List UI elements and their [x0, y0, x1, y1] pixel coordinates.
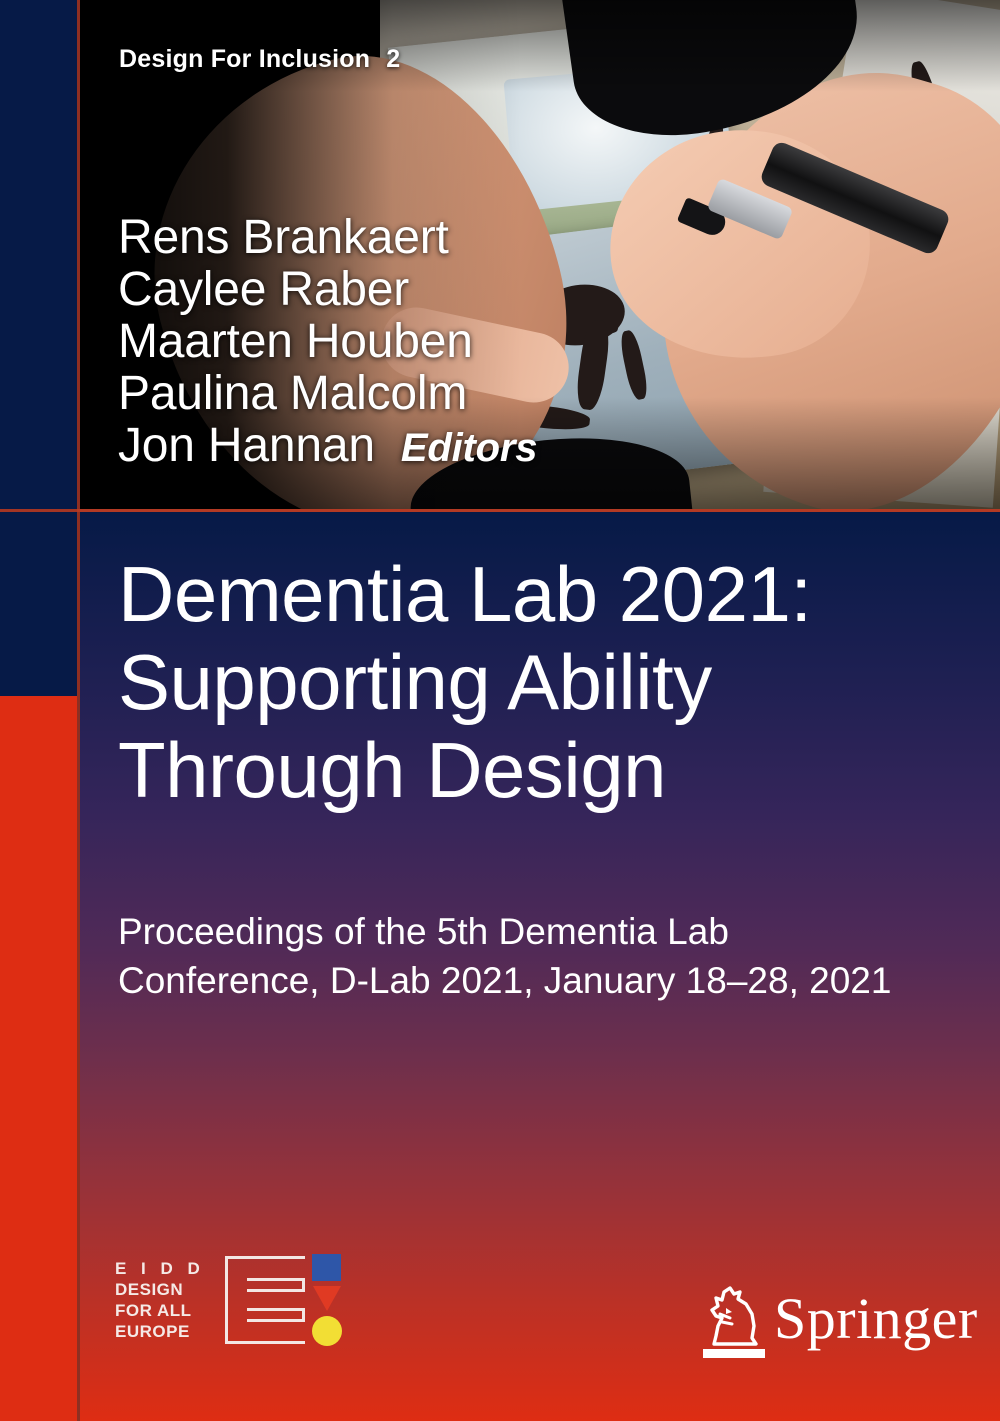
- subtitle-line: Proceedings of the 5th Dementia Lab: [118, 907, 958, 956]
- eidd-line-4: EUROPE: [115, 1321, 215, 1342]
- eidd-line-2: DESIGN: [115, 1279, 215, 1300]
- left-rail-divider: [0, 509, 77, 512]
- springer-knight-base: [703, 1349, 765, 1358]
- title-line: Through Design: [118, 726, 958, 814]
- vertical-rule: [77, 0, 80, 1421]
- editor-name: Maarten Houben: [118, 316, 537, 368]
- title-panel: Dementia Lab 2021: Supporting Ability Th…: [80, 512, 1000, 1421]
- book-title: Dementia Lab 2021: Supporting Ability Th…: [118, 550, 958, 814]
- book-cover: Design For Inclusion2 Rens Brankaert Cay…: [0, 0, 1000, 1421]
- editor-list: Rens Brankaert Caylee Raber Maarten Houb…: [118, 212, 537, 474]
- series-name: Design For Inclusion: [119, 45, 370, 73]
- book-subtitle: Proceedings of the 5th Dementia Lab Conf…: [118, 907, 958, 1005]
- blue-square-icon: [312, 1254, 341, 1281]
- editors-role-label: Editors: [401, 426, 537, 470]
- eidd-e-mark-icon: [225, 1256, 305, 1344]
- series-volume: 2: [386, 45, 400, 73]
- eidd-shape-group: [311, 1254, 345, 1348]
- editor-name-text: Jon Hannan: [118, 419, 375, 472]
- springer-knight-icon: [700, 1282, 770, 1360]
- horizontal-rule: [77, 509, 1000, 512]
- yellow-circle-icon: [312, 1316, 342, 1346]
- eidd-logo-text: E I D D DESIGN FOR ALL EUROPE: [115, 1258, 215, 1342]
- left-rail-red: [0, 696, 77, 1421]
- eidd-line-1: E I D D: [115, 1258, 215, 1279]
- title-line: Dementia Lab 2021:: [118, 550, 958, 638]
- editor-name: Caylee Raber: [118, 264, 537, 316]
- eidd-line-3: FOR ALL: [115, 1300, 215, 1321]
- editor-name-last: Jon HannanEditors: [118, 420, 537, 474]
- title-line: Supporting Ability: [118, 638, 958, 726]
- springer-logo: Springer: [700, 1282, 960, 1362]
- editor-name: Paulina Malcolm: [118, 368, 537, 420]
- editor-name: Rens Brankaert: [118, 212, 537, 264]
- subtitle-line: Conference, D-Lab 2021, January 18–28, 2…: [118, 956, 958, 1005]
- eidd-e-outline: [225, 1256, 305, 1344]
- eidd-logo: E I D D DESIGN FOR ALL EUROPE: [115, 1250, 345, 1355]
- cover-main-column: Design For Inclusion2 Rens Brankaert Cay…: [80, 0, 1000, 1421]
- series-title: Design For Inclusion2: [119, 45, 400, 74]
- eidd-e-bar-upper: [247, 1278, 305, 1292]
- red-triangle-icon: [313, 1286, 341, 1311]
- publisher-name: Springer: [774, 1288, 978, 1350]
- eidd-e-bar-lower: [247, 1308, 305, 1322]
